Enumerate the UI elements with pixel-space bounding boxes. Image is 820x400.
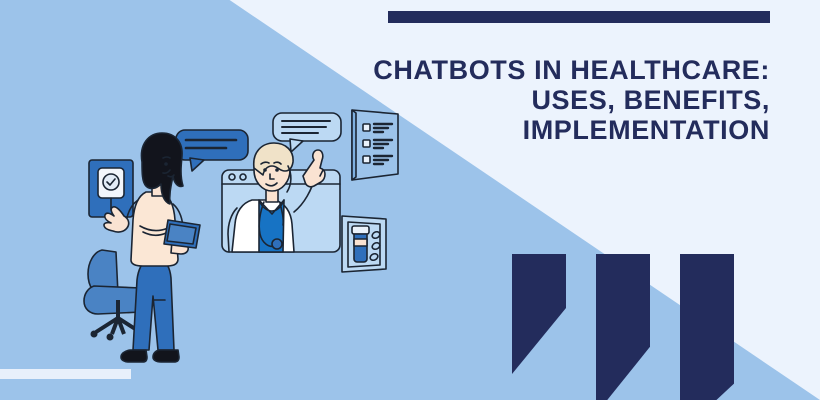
checklist-card (352, 110, 398, 180)
medicine-card (342, 216, 386, 272)
hero-illustration: .ol { stroke:#1b2533; stroke-width:1.6; … (80, 108, 425, 378)
decorative-bar-3 (680, 254, 734, 400)
title-line-1: CHATBOTS IN HEALTHCARE: (350, 55, 770, 85)
banner-root: CHATBOTS IN HEALTHCARE: USES, BENEFITS, … (0, 0, 820, 400)
top-navy-rule (388, 11, 770, 23)
chat-bubble-dark (176, 130, 248, 171)
